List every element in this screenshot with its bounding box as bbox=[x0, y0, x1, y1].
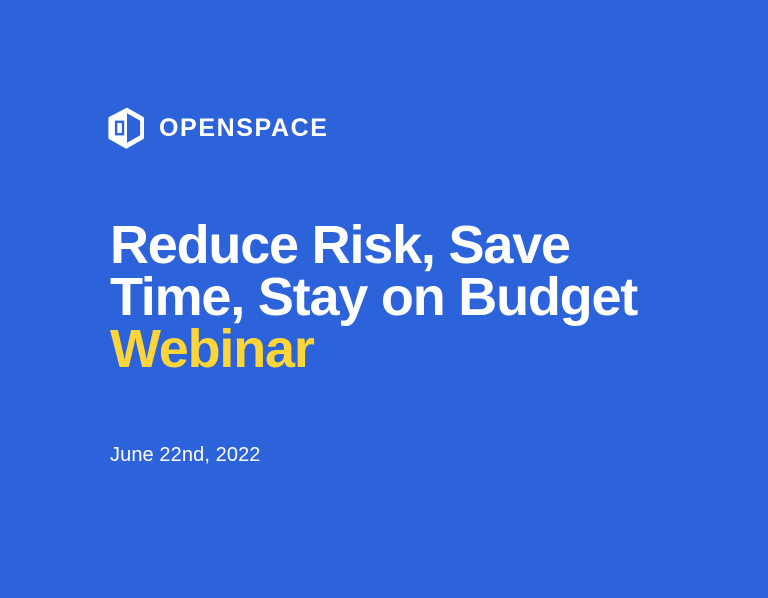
openspace-hexagon-logo-icon bbox=[108, 106, 146, 150]
slide-headline: Reduce Risk, Save Time, Stay on Budget W… bbox=[110, 219, 710, 375]
headline-line-3: Webinar bbox=[110, 323, 710, 375]
title-slide: OPENSPACE Reduce Risk, Save Time, Stay o… bbox=[0, 0, 768, 598]
brand-wordmark: OPENSPACE bbox=[159, 116, 329, 141]
headline-line-2: Time, Stay on Budget bbox=[110, 271, 710, 323]
event-date: June 22nd, 2022 bbox=[110, 443, 261, 467]
headline-line-1: Reduce Risk, Save bbox=[110, 219, 710, 271]
brand-logo-lockup: OPENSPACE bbox=[108, 106, 329, 150]
